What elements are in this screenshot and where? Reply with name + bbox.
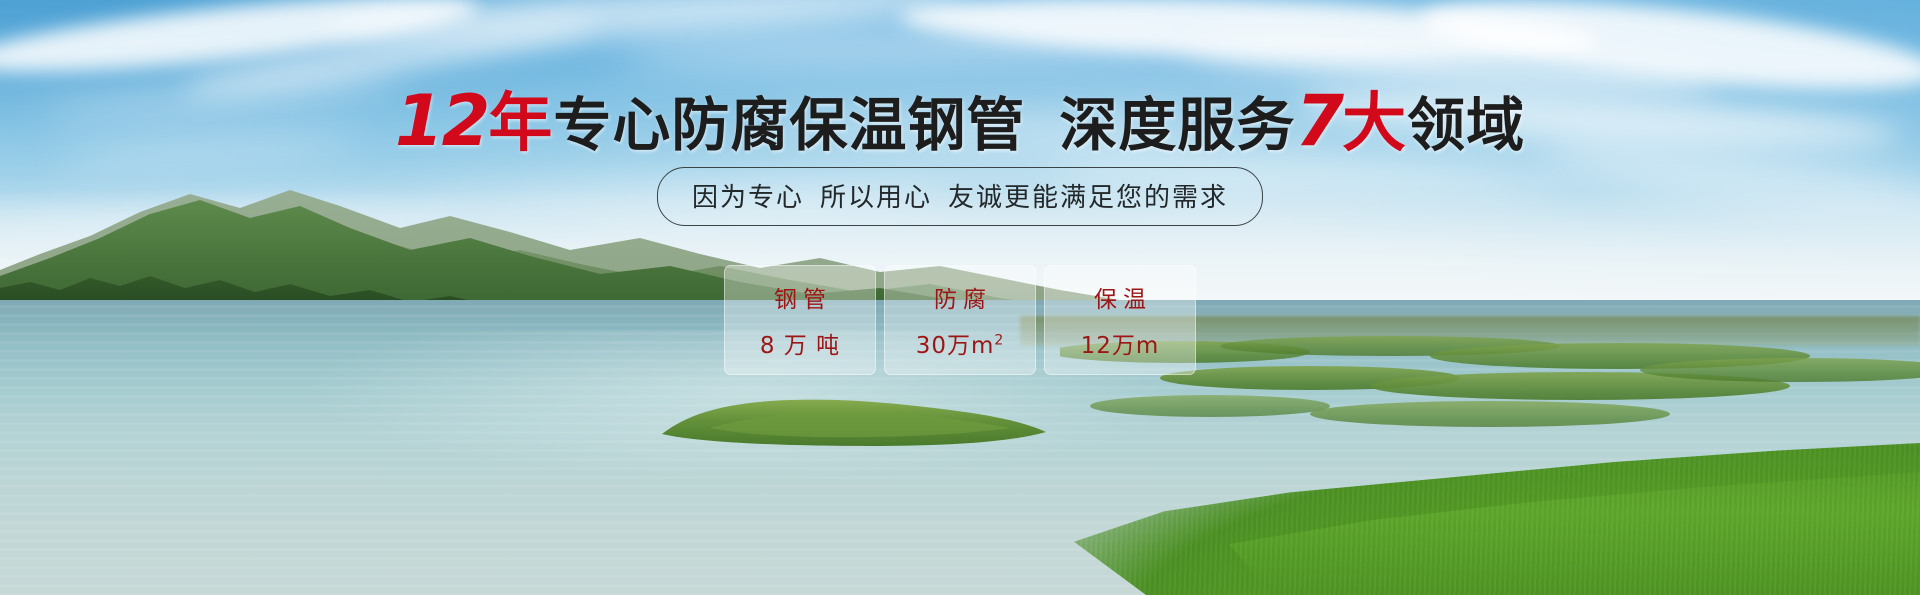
hero-banner: 12年专心防腐保温钢管深度服务7大领域 因为专心所以用心友诚更能满足您的需求 钢… [0, 0, 1920, 595]
headline-years-number: 12 [395, 80, 488, 162]
stat-value: 30万m2 [916, 326, 1005, 360]
stats-row: 钢管 8 万 吨 防腐 30万m2 保温 12万m [724, 265, 1196, 375]
banner-headline: 12年专心防腐保温钢管深度服务7大领域 [0, 86, 1920, 156]
subtitle-pill: 因为专心所以用心友诚更能满足您的需求 [657, 167, 1263, 226]
stat-value-text: 8 万 吨 [760, 333, 840, 359]
stat-card-steel-pipe: 钢管 8 万 吨 [724, 265, 876, 375]
stat-label: 防腐 [928, 280, 992, 314]
stat-value-text: 12万m [1081, 333, 1160, 359]
stat-value: 12万m [1081, 326, 1160, 360]
stat-card-insulation: 保温 12万m [1044, 265, 1196, 375]
subtitle-part-2: 所以用心 [820, 183, 932, 213]
stat-card-anticorrosion: 防腐 30万m2 [884, 265, 1036, 375]
banner-content: 12年专心防腐保温钢管深度服务7大领域 因为专心所以用心友诚更能满足您的需求 钢… [0, 0, 1920, 595]
headline-domains-unit: 大 [1342, 87, 1407, 161]
headline-service-text: 深度服务 [1059, 91, 1295, 159]
subtitle-part-1: 因为专心 [692, 183, 804, 213]
stat-label: 钢管 [768, 280, 832, 314]
headline-domains-tail: 领域 [1407, 91, 1525, 159]
headline-main-text: 专心防腐保温钢管 [553, 91, 1025, 159]
headline-years-unit: 年 [488, 87, 553, 161]
subtitle-part-3: 友诚更能满足您的需求 [948, 183, 1228, 213]
headline-domains-number: 7 [1295, 80, 1342, 162]
stat-value-superscript: 2 [994, 332, 1004, 348]
stat-value: 8 万 吨 [760, 326, 840, 360]
stat-label: 保温 [1088, 280, 1152, 314]
stat-value-text: 30万m [916, 333, 995, 359]
